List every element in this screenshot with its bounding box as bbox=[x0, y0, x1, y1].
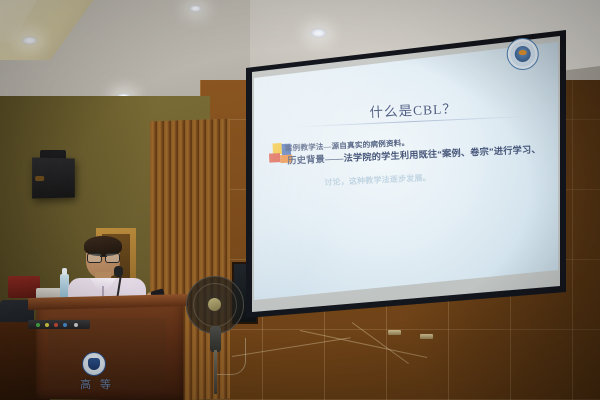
glasses-bridge bbox=[100, 256, 107, 257]
podium-nameplate: 高 等 bbox=[74, 376, 120, 392]
wall-plate bbox=[420, 334, 433, 339]
glasses-lens-left bbox=[87, 253, 102, 263]
wall-plate bbox=[388, 330, 401, 335]
presentation-slide: 什么是CBL？ 案例教学法—源自真实的病例资料。 历史背景——法学院的学生利用既… bbox=[258, 31, 564, 266]
glasses-lens-right bbox=[105, 253, 120, 263]
downlight-icon bbox=[21, 36, 38, 45]
microphone-icon bbox=[114, 266, 123, 277]
fan-power-cord bbox=[217, 338, 246, 375]
podium-crest-icon bbox=[82, 352, 106, 376]
control-button[interactable] bbox=[54, 323, 58, 327]
glasses-icon bbox=[87, 253, 120, 261]
downlight-icon bbox=[310, 28, 327, 38]
podium-control-panel bbox=[28, 320, 90, 329]
emblem-bird-icon bbox=[519, 50, 527, 55]
deco-block-red bbox=[269, 153, 280, 162]
wall-speaker-icon bbox=[32, 157, 75, 198]
fan-hub bbox=[208, 298, 221, 311]
control-button[interactable] bbox=[36, 323, 40, 327]
control-button[interactable] bbox=[45, 323, 49, 327]
control-button[interactable] bbox=[74, 323, 78, 327]
lecture-hall-photo: 什么是CBL？ 案例教学法—源自真实的病例资料。 历史背景——法学院的学生利用既… bbox=[0, 0, 600, 400]
control-button[interactable] bbox=[63, 323, 67, 327]
university-emblem-icon bbox=[506, 37, 539, 70]
pedestal-fan bbox=[186, 276, 250, 394]
slide-bullet-3-faded: 讨论，这种教学法逐步发展。 bbox=[324, 172, 431, 188]
downlight-icon bbox=[189, 5, 202, 12]
